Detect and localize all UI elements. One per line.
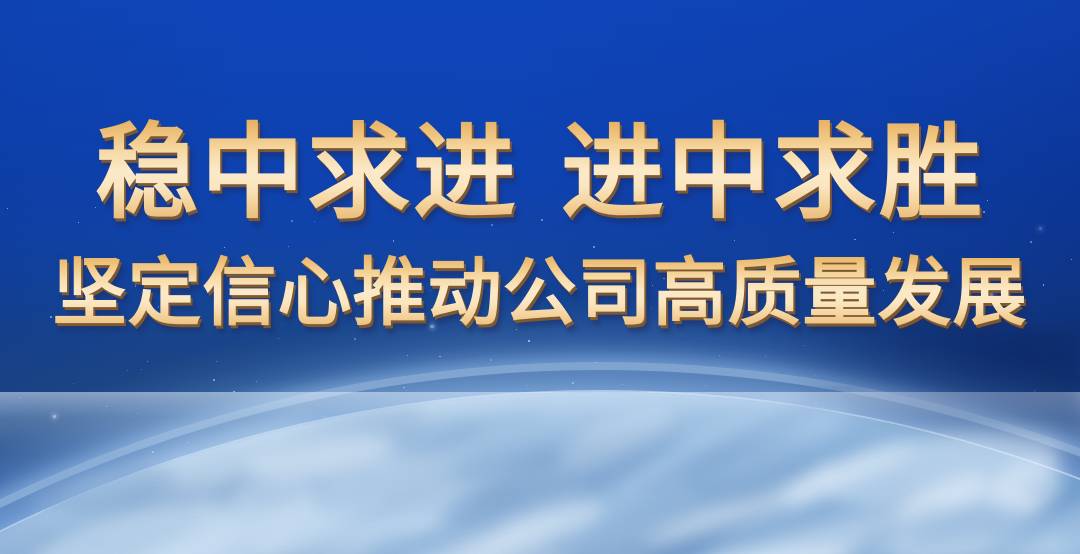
poster-canvas: 稳中求进进中求胜 坚定信心推动公司高质量发展 [0, 0, 1080, 554]
limb-shadow [740, 330, 1080, 460]
earth-scene [0, 0, 1080, 554]
